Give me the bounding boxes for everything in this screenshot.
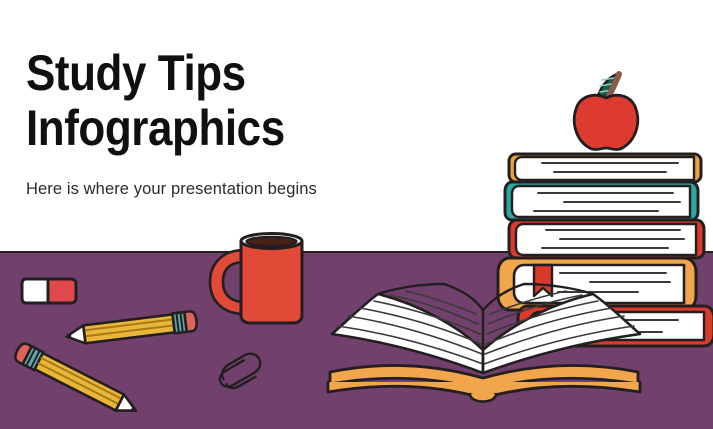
open-book [318, 268, 648, 404]
book-third [509, 220, 704, 258]
book-second [505, 182, 698, 220]
book-top [509, 154, 701, 182]
apple-icon [574, 73, 638, 150]
page-subtitle: Here is where your presentation begins [26, 156, 426, 199]
paperclip [216, 356, 270, 398]
page-title: Study Tips Infographics [26, 46, 378, 156]
eraser [20, 276, 78, 306]
title-block: Study Tips Infographics Here is where yo… [26, 46, 426, 199]
presentation-slide: Study Tips Infographics Here is where yo… [0, 0, 713, 429]
coffee-mug [214, 228, 314, 326]
pencil-lower [2, 338, 152, 418]
